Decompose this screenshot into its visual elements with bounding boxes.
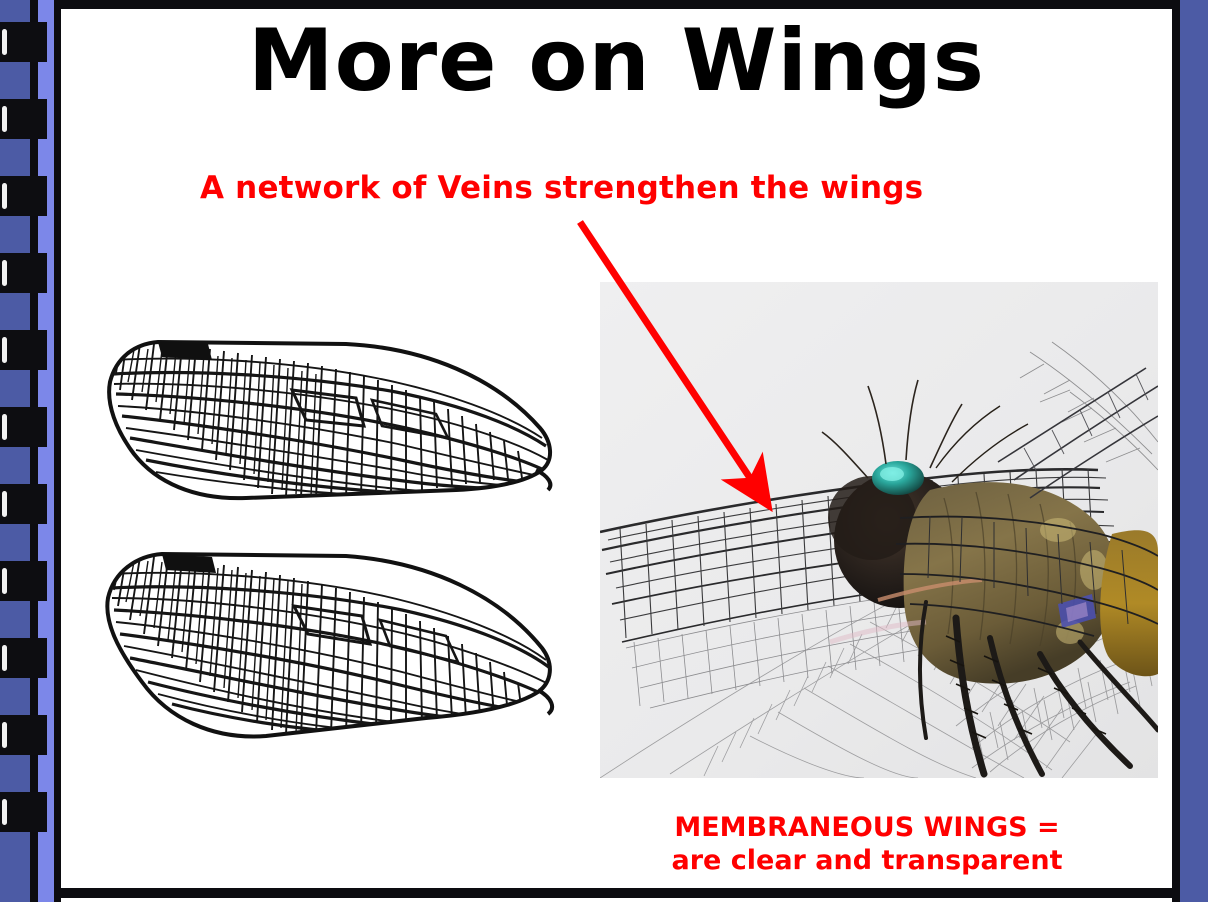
spiral-ring — [0, 99, 47, 139]
spiral-ring — [0, 715, 47, 755]
caption-line-1: MEMBRANEOUS WINGS = — [674, 812, 1059, 843]
dragonfly-hindwing-diagram — [96, 540, 556, 775]
page-border-right-strip — [1180, 0, 1208, 902]
page-border-top — [61, 0, 1208, 9]
caption-line-2: are clear and transparent — [600, 845, 1134, 878]
spiral-ring — [0, 792, 47, 832]
caption-membraneous-wings: MEMBRANEOUS WINGS = are clear and transp… — [600, 812, 1134, 878]
page-border-right-rule — [1172, 0, 1180, 902]
dragonfly-forewing-diagram — [96, 330, 556, 555]
slide-canvas: More on Wings A network of Veins strengt… — [0, 0, 1208, 902]
spiral-ring — [0, 407, 47, 447]
spiral-ring — [0, 22, 47, 62]
spiral-ring — [0, 561, 47, 601]
subtitle-veins-note: A network of Veins strengthen the wings — [200, 170, 923, 206]
dragonfly-photo — [600, 282, 1158, 778]
page-border-bottom — [61, 888, 1208, 898]
spiral-ring — [0, 638, 47, 678]
page-title: More on Wings — [61, 16, 1172, 106]
spiral-ring — [0, 176, 47, 216]
dragonfly-photo-content — [600, 282, 1158, 778]
spiral-ring — [0, 253, 47, 293]
binding-rule-outer — [54, 0, 61, 902]
spiral-ring — [0, 330, 47, 370]
spiral-ring — [0, 484, 47, 524]
